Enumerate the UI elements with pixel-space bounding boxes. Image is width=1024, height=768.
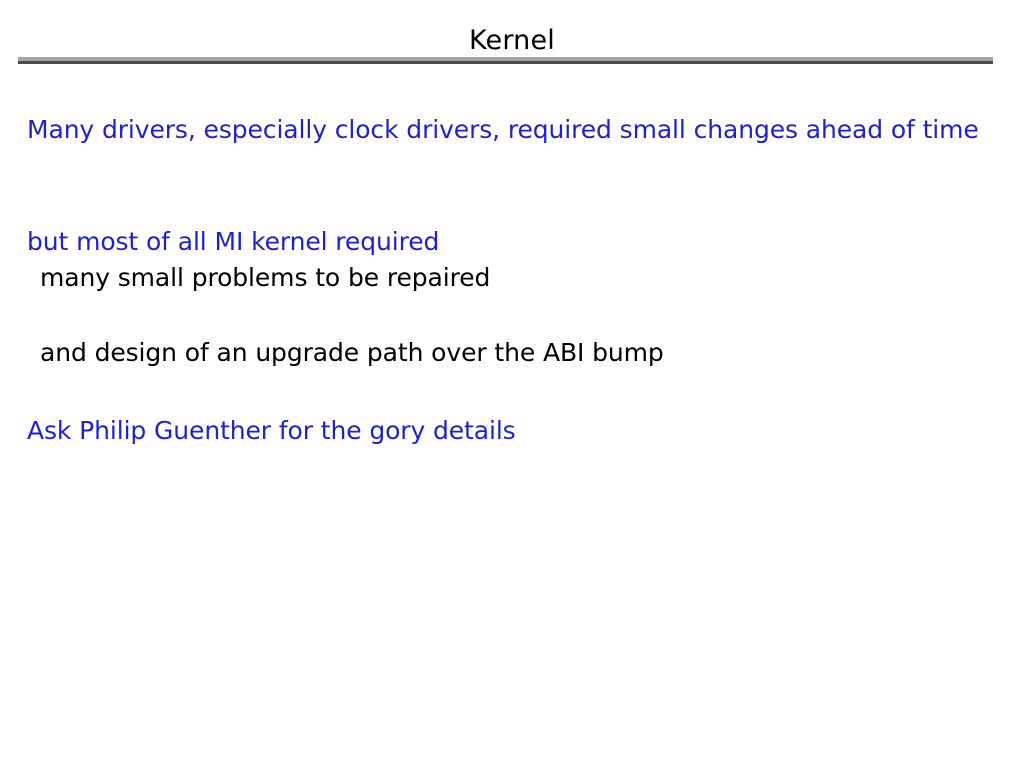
slide-body: Many drivers, especially clock drivers, …: [0, 0, 1024, 768]
body-paragraph-drivers: Many drivers, especially clock drivers, …: [27, 113, 992, 147]
presentation-slide: Kernel Many drivers, especially clock dr…: [0, 0, 1024, 768]
body-paragraph-upgrade-path: and design of an upgrade path over the A…: [40, 336, 990, 370]
body-paragraph-small-problems: many small problems to be repaired: [40, 261, 990, 295]
body-paragraph-mi-kernel: but most of all MI kernel required: [27, 225, 992, 259]
body-paragraph-ask-philip: Ask Philip Guenther for the gory details: [27, 414, 992, 448]
